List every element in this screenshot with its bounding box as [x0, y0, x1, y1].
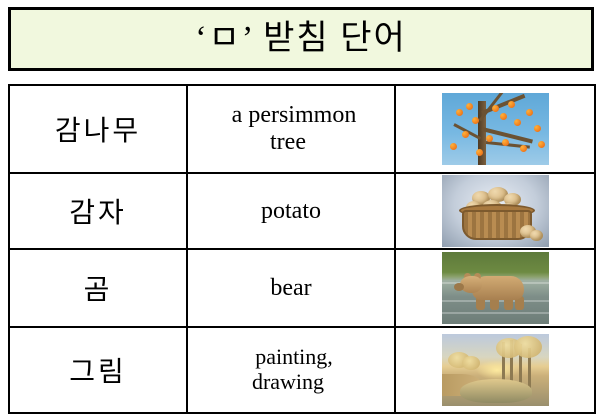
landscape-painting-image	[442, 334, 549, 406]
picture-cell	[395, 249, 595, 327]
page-title-banner: ‘ㅁ’ 받침 단어	[8, 7, 594, 71]
picture-cell	[395, 327, 595, 413]
korean-word-text: 그림	[69, 357, 127, 388]
english-meaning-cell: potato	[187, 173, 395, 249]
table-row: 감자 potato	[9, 173, 595, 249]
korean-word-cell: 감자	[9, 173, 187, 249]
table-row: 그림 painting, drawing	[9, 327, 595, 413]
korean-word-cell: 감나무	[9, 85, 187, 173]
korean-word-text: 감자	[69, 198, 127, 229]
korean-word-cell: 그림	[9, 327, 187, 413]
vocabulary-table: 감나무 a persimmon tree	[8, 84, 596, 414]
picture-cell	[395, 173, 595, 249]
korean-word-cell: 곰	[9, 249, 187, 327]
korean-word-text: 감나무	[55, 116, 141, 147]
persimmon-tree-photo	[442, 93, 549, 165]
brown-bear-photo	[442, 252, 549, 324]
table-row: 감나무 a persimmon tree	[9, 85, 595, 173]
page-title: ‘ㅁ’ 받침 단어	[195, 22, 407, 56]
english-meaning-text: a persimmon tree	[226, 102, 357, 155]
worksheet-page: ‘ㅁ’ 받침 단어 감나무 a persimmon tree	[0, 0, 614, 414]
picture-cell	[395, 85, 595, 173]
english-meaning-cell: painting, drawing	[187, 327, 395, 413]
english-meaning-cell: a persimmon tree	[187, 85, 395, 173]
english-meaning-text: painting, drawing	[249, 344, 333, 394]
potato-basket-photo	[442, 175, 549, 247]
english-meaning-text: potato	[255, 198, 327, 224]
english-meaning-text: bear	[264, 275, 317, 301]
korean-word-text: 곰	[84, 275, 113, 306]
table-row: 곰 bear	[9, 249, 595, 327]
english-meaning-cell: bear	[187, 249, 395, 327]
